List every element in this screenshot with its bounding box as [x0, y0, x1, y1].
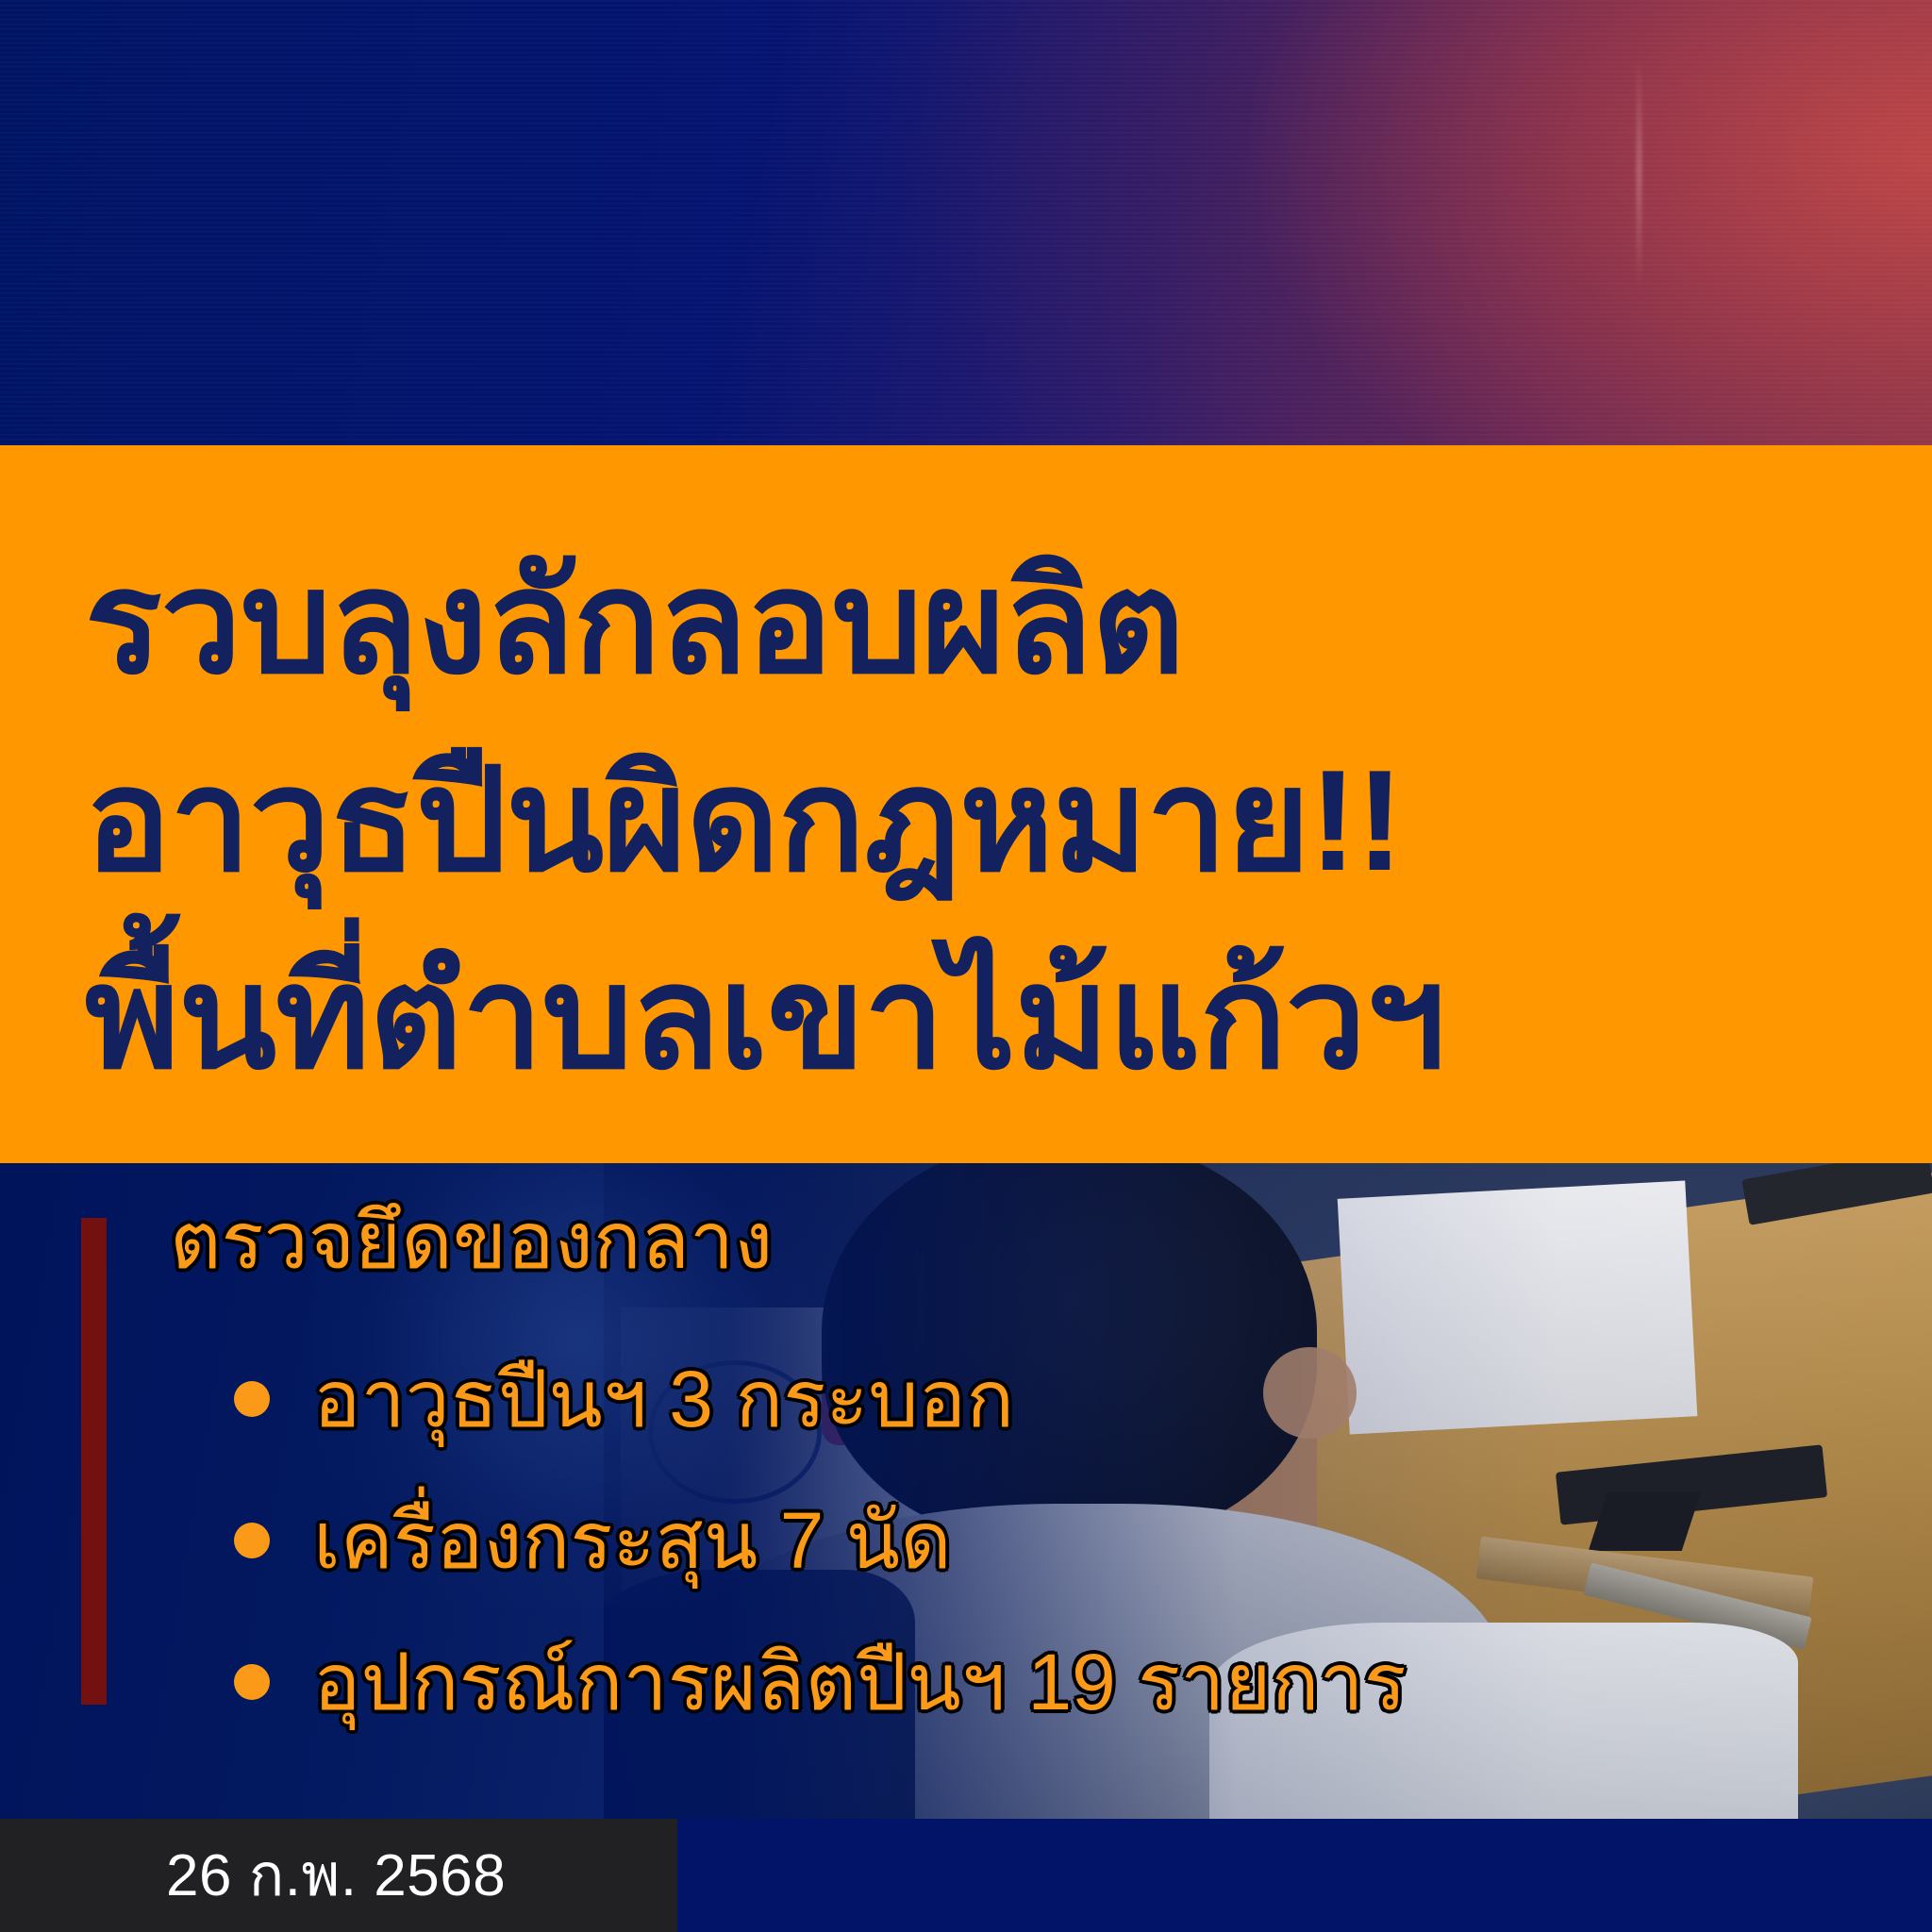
bullet-dot-icon [234, 1664, 270, 1700]
headline-line-2: อาวุธปืนผิดกฎหมาย!! [85, 723, 1894, 921]
list-item: อาวุธปืนฯ 3 กระบอก [234, 1328, 1407, 1470]
seized-items-heading: ตรวจยึดของกลาง [170, 1201, 773, 1280]
date-text: 26 ก.พ. 2568 [166, 1829, 506, 1922]
light-streak [1637, 55, 1641, 291]
headline-line-3: พื้นที่ตำบลเขาไม้แก้วฯ [85, 920, 1894, 1118]
list-item-label: เครื่องกระสุน 7 นัด [313, 1501, 952, 1580]
news-poster: รวบลุงลักลอบผลิต อาวุธปืนผิดกฎหมาย!! พื้… [0, 0, 1932, 1932]
top-gradient-band [0, 0, 1932, 445]
list-item-label: อาวุธปืนฯ 3 กระบอก [313, 1359, 1014, 1439]
headline-line-1: รวบลุงลักลอบผลิต [85, 525, 1894, 723]
seized-items-section: ตรวจยึดของกลาง อาวุธปืนฯ 3 กระบอก เครื่อ… [0, 1163, 1932, 1819]
accent-bar [81, 1218, 107, 1705]
date-bar: 26 ก.พ. 2568 [0, 1819, 677, 1932]
seized-items-list: อาวุธปืนฯ 3 กระบอก เครื่องกระสุน 7 นัด อ… [234, 1328, 1407, 1753]
headline-banner: รวบลุงลักลอบผลิต อาวุธปืนผิดกฎหมาย!! พื้… [0, 445, 1932, 1163]
bullet-dot-icon [234, 1381, 270, 1417]
scanline-texture [0, 0, 1932, 445]
list-item-label: อุปกรณ์การผลิตปืนฯ 19 รายการ [313, 1642, 1407, 1722]
bullet-dot-icon [234, 1523, 270, 1558]
footer-navy-fill [677, 1819, 1932, 1932]
list-item: อุปกรณ์การผลิตปืนฯ 19 รายการ [234, 1611, 1407, 1753]
list-item: เครื่องกระสุน 7 นัด [234, 1470, 1407, 1611]
